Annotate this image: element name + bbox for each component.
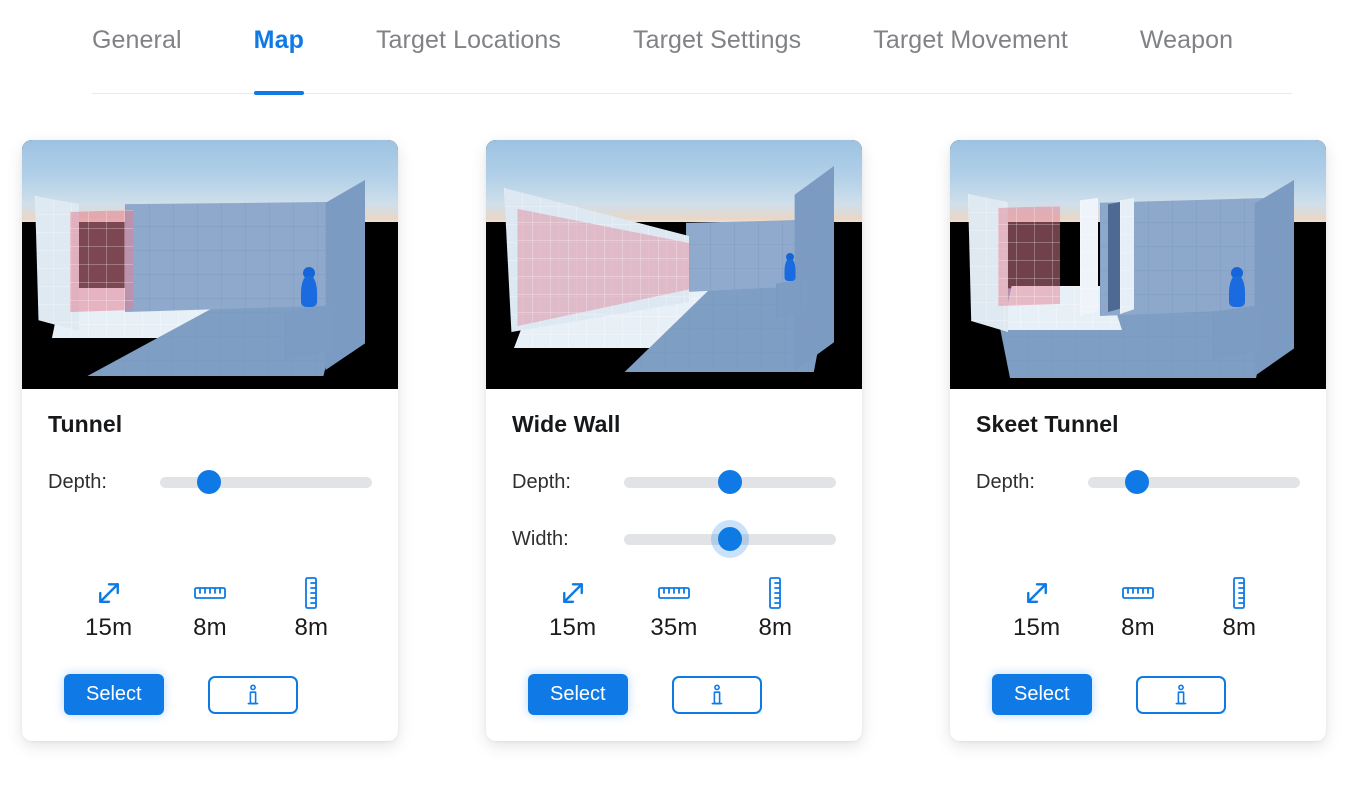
metric-depth: 15m <box>63 576 155 642</box>
map-thumbnail-wide-wall[interactable] <box>486 140 862 389</box>
diagonal-arrows-icon <box>558 576 588 610</box>
metric-width: 8m <box>164 576 256 642</box>
target-figure <box>784 253 795 281</box>
metric-depth: 15m <box>991 576 1083 642</box>
select-button[interactable]: Select <box>528 674 628 715</box>
metric-width: 35m <box>628 576 720 642</box>
metric-value: 8m <box>758 614 792 642</box>
tab-general[interactable]: General <box>92 0 182 95</box>
metric-value: 15m <box>85 614 132 642</box>
slider-row-depth: Depth: <box>976 462 1300 502</box>
target-wall-pink <box>998 206 1060 306</box>
map-thumbnail-skeet-tunnel[interactable] <box>950 140 1326 389</box>
tab-map[interactable]: Map <box>254 0 304 95</box>
map-thumbnail-tunnel[interactable] <box>22 140 398 389</box>
map-card-wide-wall[interactable]: Wide Wall Depth: Width: <box>486 140 862 741</box>
metric-value: 8m <box>1222 614 1256 642</box>
slider-label-width: Width: <box>512 528 624 551</box>
metric-value: 8m <box>1121 614 1155 642</box>
tab-target-settings[interactable]: Target Settings <box>633 0 801 95</box>
metric-depth: 15m <box>527 576 619 642</box>
tab-label: Target Movement <box>873 26 1068 54</box>
diagonal-arrows-icon <box>94 576 124 610</box>
horizontal-ruler-icon <box>657 576 691 610</box>
tab-target-movement[interactable]: Target Movement <box>873 0 1068 95</box>
metric-width: 8m <box>1092 576 1184 642</box>
info-icon <box>245 684 261 706</box>
select-button[interactable]: Select <box>992 674 1092 715</box>
tab-target-locations[interactable]: Target Locations <box>376 0 561 95</box>
slider-thumb-depth[interactable] <box>1125 470 1149 494</box>
map-card-skeet-tunnel[interactable]: Skeet Tunnel Depth: 15m <box>950 140 1326 741</box>
metric-value: 15m <box>549 614 596 642</box>
slider-row-depth: Depth: <box>512 462 836 502</box>
pillar-gap-dark <box>1108 202 1120 312</box>
target-figure <box>301 267 317 307</box>
vertical-ruler-icon <box>301 576 321 610</box>
tab-label: Weapon <box>1140 26 1233 54</box>
card-actions: Select <box>48 674 372 715</box>
card-title: Wide Wall <box>512 411 836 438</box>
range-scene <box>950 140 1326 389</box>
card-body: Skeet Tunnel Depth: 15m <box>950 389 1326 741</box>
range-scene <box>486 140 862 389</box>
card-body: Tunnel Depth: 15m <box>22 389 398 741</box>
tab-label: General <box>92 26 182 54</box>
horizontal-ruler-icon <box>193 576 227 610</box>
active-tab-indicator <box>254 91 304 95</box>
metric-value: 35m <box>650 614 697 642</box>
info-icon <box>709 684 725 706</box>
info-button[interactable] <box>672 676 762 714</box>
vertical-ruler-icon <box>765 576 785 610</box>
card-title: Tunnel <box>48 411 372 438</box>
metrics-row: 15m 8m <box>48 576 372 642</box>
slider-track[interactable] <box>160 477 372 488</box>
depth-slider[interactable] <box>624 469 836 495</box>
tab-label: Target Locations <box>376 26 561 54</box>
tab-label: Map <box>254 26 304 54</box>
card-actions: Select <box>976 674 1300 715</box>
slider-label-depth: Depth: <box>48 471 160 494</box>
tab-weapon[interactable]: Weapon <box>1140 0 1233 95</box>
slider-track[interactable] <box>1088 477 1300 488</box>
card-actions: Select <box>512 674 836 715</box>
info-icon <box>1173 684 1189 706</box>
metrics-row: 15m 8m <box>976 576 1300 642</box>
platform-box <box>285 305 332 360</box>
tab-label: Target Settings <box>633 26 801 54</box>
depth-slider[interactable] <box>1088 469 1300 495</box>
info-button[interactable] <box>1136 676 1226 714</box>
slider-thumb-width[interactable] <box>718 527 742 551</box>
depth-slider[interactable] <box>160 469 372 495</box>
vertical-ruler-icon <box>1229 576 1249 610</box>
map-card-grid: Tunnel Depth: 15m <box>0 95 1357 741</box>
metric-value: 8m <box>294 614 328 642</box>
metric-value: 8m <box>193 614 227 642</box>
slider-thumb-depth[interactable] <box>718 470 742 494</box>
metric-height: 8m <box>265 576 357 642</box>
info-button[interactable] <box>208 676 298 714</box>
target-figure <box>1229 267 1245 307</box>
metric-height: 8m <box>1193 576 1285 642</box>
card-title: Skeet Tunnel <box>976 411 1300 438</box>
tab-bar: General Map Target Locations Target Sett… <box>0 0 1357 95</box>
metric-value: 15m <box>1013 614 1060 642</box>
diagonal-arrows-icon <box>1022 576 1052 610</box>
card-body: Wide Wall Depth: Width: <box>486 389 862 741</box>
horizontal-ruler-icon <box>1121 576 1155 610</box>
slider-row-depth: Depth: <box>48 462 372 502</box>
pillar-right <box>1120 198 1134 314</box>
slider-label-depth: Depth: <box>976 471 1088 494</box>
slider-thumb-depth[interactable] <box>197 470 221 494</box>
target-wall-pink <box>70 210 133 312</box>
slider-label-depth: Depth: <box>512 471 624 494</box>
metrics-row: 15m 35m <box>512 576 836 642</box>
range-scene <box>22 140 398 389</box>
width-slider[interactable] <box>624 526 836 552</box>
select-button[interactable]: Select <box>64 674 164 715</box>
platform-box <box>1213 305 1260 360</box>
pillar-left <box>1080 198 1098 316</box>
metric-height: 8m <box>729 576 821 642</box>
slider-row-width: Width: <box>512 519 836 559</box>
map-card-tunnel[interactable]: Tunnel Depth: 15m <box>22 140 398 741</box>
